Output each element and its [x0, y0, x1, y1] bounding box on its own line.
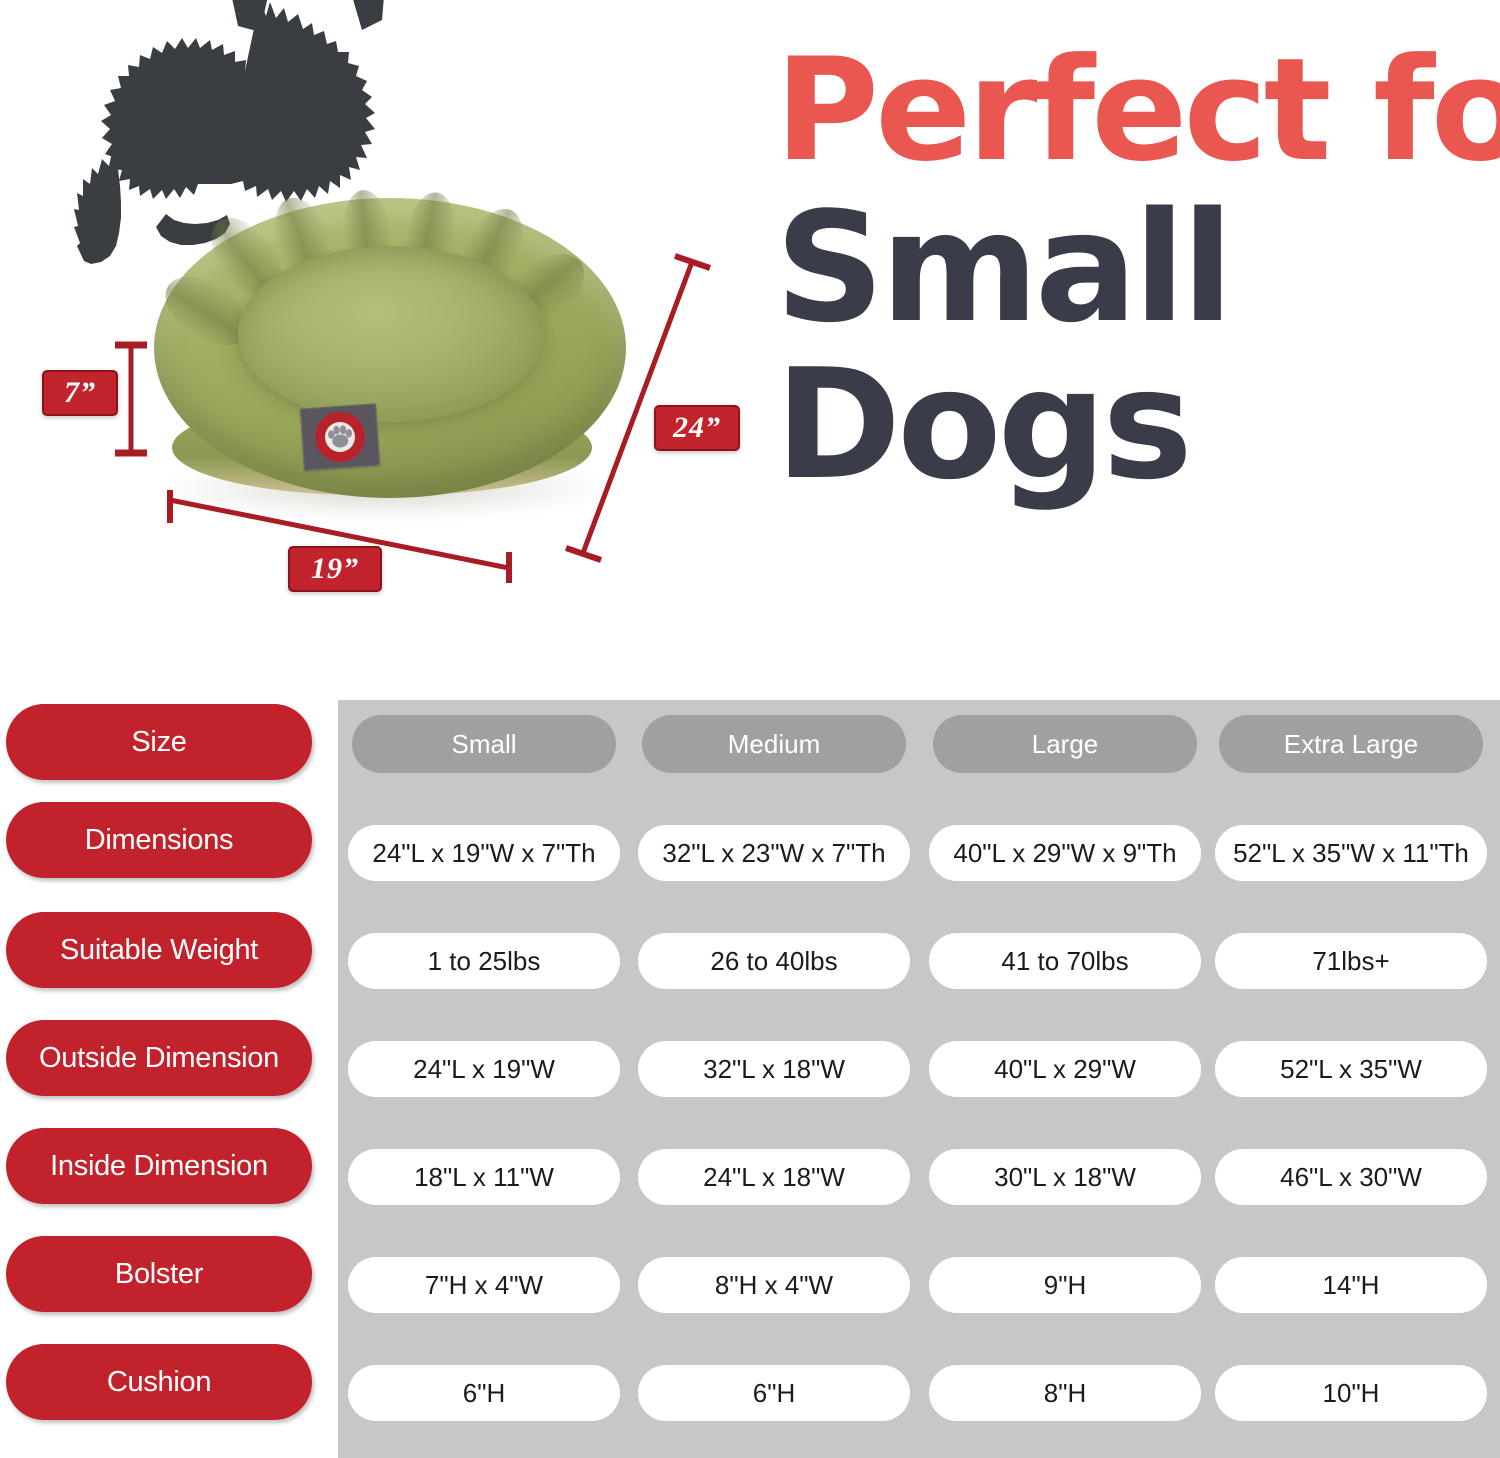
cell-dimensions-medium: 32"L x 23"W x 7"Th	[638, 825, 910, 881]
cell-cushion-small: 6"H	[348, 1365, 620, 1421]
cell-inside-small: 18"L x 11"W	[348, 1149, 620, 1205]
data-columns: Small Medium Large Extra Large 24"L x 19…	[0, 690, 1500, 1458]
spec-table: Size Dimensions Suitable Weight Outside …	[0, 690, 1500, 1458]
cell-dimensions-small: 24"L x 19"W x 7"Th	[348, 825, 620, 881]
cell-weight-small: 1 to 25lbs	[348, 933, 620, 989]
callout-height-label: 7”	[42, 370, 118, 416]
column-header-small: Small	[352, 715, 616, 773]
cell-outside-small: 24"L x 19"W	[348, 1041, 620, 1097]
cell-outside-medium: 32"L x 18"W	[638, 1041, 910, 1097]
cell-weight-extra-large: 71lbs+	[1215, 933, 1487, 989]
callout-length-label: 24”	[654, 405, 740, 451]
cell-weight-large: 41 to 70lbs	[929, 933, 1201, 989]
cell-dimensions-extra-large: 52"L x 35"W x 11"Th	[1215, 825, 1487, 881]
column-header-large: Large	[933, 715, 1197, 773]
column-header-extra-large: Extra Large	[1219, 715, 1483, 773]
cell-bolster-large: 9"H	[929, 1257, 1201, 1313]
cell-bolster-small: 7"H x 4"W	[348, 1257, 620, 1313]
cell-inside-extra-large: 46"L x 30"W	[1215, 1149, 1487, 1205]
cell-inside-medium: 24"L x 18"W	[638, 1149, 910, 1205]
cell-dimensions-large: 40"L x 29"W x 9"Th	[929, 825, 1201, 881]
headline-line-3: Dogs	[775, 351, 1495, 498]
callout-width-label: 19”	[288, 546, 382, 592]
headline-line-1: Perfect for	[775, 42, 1495, 180]
cell-bolster-extra-large: 14"H	[1215, 1257, 1487, 1313]
cell-weight-medium: 26 to 40lbs	[638, 933, 910, 989]
cell-inside-large: 30"L x 18"W	[929, 1149, 1201, 1205]
cell-bolster-medium: 8"H x 4"W	[638, 1257, 910, 1313]
cell-outside-extra-large: 52"L x 35"W	[1215, 1041, 1487, 1097]
column-header-medium: Medium	[642, 715, 906, 773]
cell-cushion-large: 8"H	[929, 1365, 1201, 1421]
cell-outside-large: 40"L x 29"W	[929, 1041, 1201, 1097]
cell-cushion-extra-large: 10"H	[1215, 1365, 1487, 1421]
headline-line-2: Small	[775, 194, 1495, 341]
headline-block: Perfect for Small Dogs	[775, 42, 1495, 499]
cell-cushion-medium: 6"H	[638, 1365, 910, 1421]
hero-section: 7” 19” 24” Perfect for Small Dogs	[0, 0, 1500, 690]
